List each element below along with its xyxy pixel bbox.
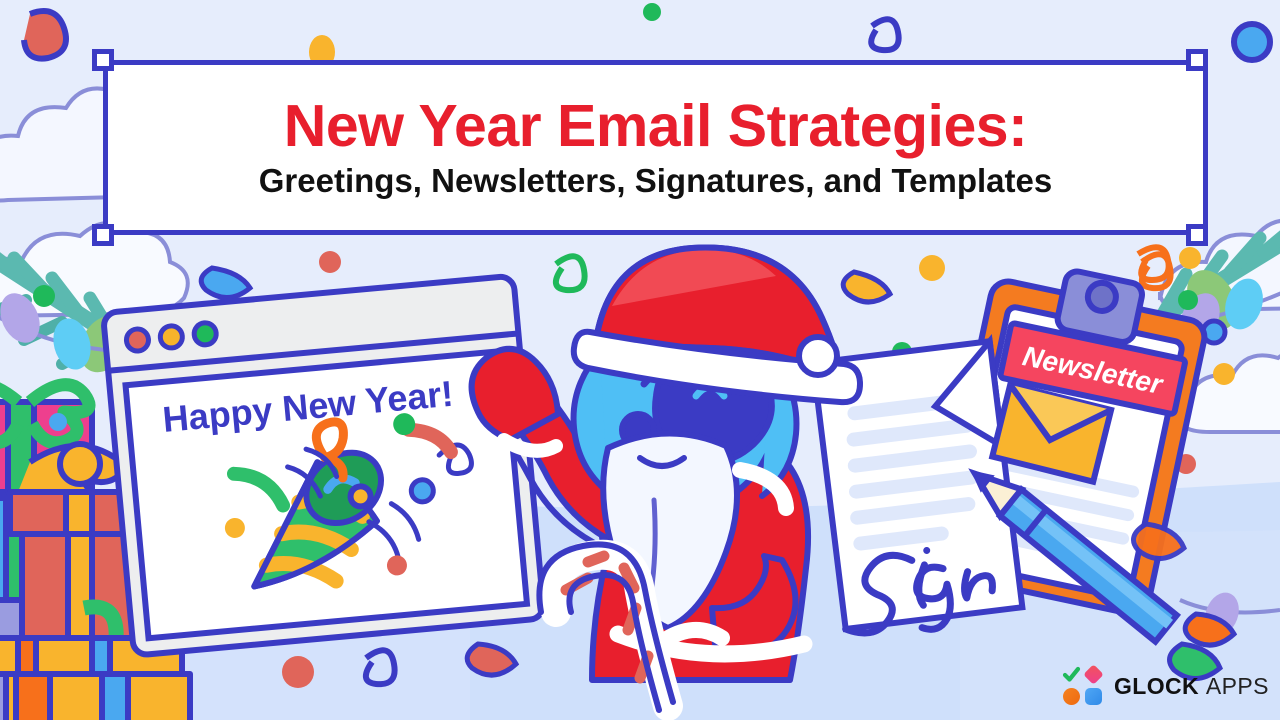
confetti-squiggle — [1138, 247, 1169, 280]
check-icon — [1063, 666, 1080, 683]
confetti-bean — [1185, 614, 1234, 645]
confetti-dot — [282, 656, 314, 688]
brand-name-bold: GLOCK — [1114, 673, 1199, 699]
confetti-bean — [1134, 524, 1185, 559]
resize-handle-top-right[interactable] — [1186, 49, 1208, 71]
circle-icon — [1063, 688, 1080, 705]
page-subtitle: Greetings, Newsletters, Signatures, and … — [259, 164, 1052, 199]
resize-handle-top-left[interactable] — [92, 49, 114, 71]
confetti-squiggle — [366, 650, 395, 684]
diamond-icon — [1083, 664, 1104, 685]
square-icon — [1085, 688, 1102, 705]
resize-handle-bottom-right[interactable] — [1186, 224, 1208, 246]
poster-canvas: Happy New Year! — [0, 0, 1280, 720]
brand-logo[interactable]: GLOCK APPS — [1063, 666, 1269, 706]
brand-name: GLOCK APPS — [1114, 673, 1269, 700]
glockapps-logo-mark — [1063, 666, 1103, 706]
brand-name-light: APPS — [1206, 673, 1269, 699]
resize-handle-bottom-left[interactable] — [92, 224, 114, 246]
confetti-dot — [1179, 247, 1201, 269]
title-card: New Year Email Strategies: Greetings, Ne… — [103, 60, 1208, 235]
page-title: New Year Email Strategies: — [284, 96, 1027, 156]
confetti-bean — [467, 644, 516, 675]
